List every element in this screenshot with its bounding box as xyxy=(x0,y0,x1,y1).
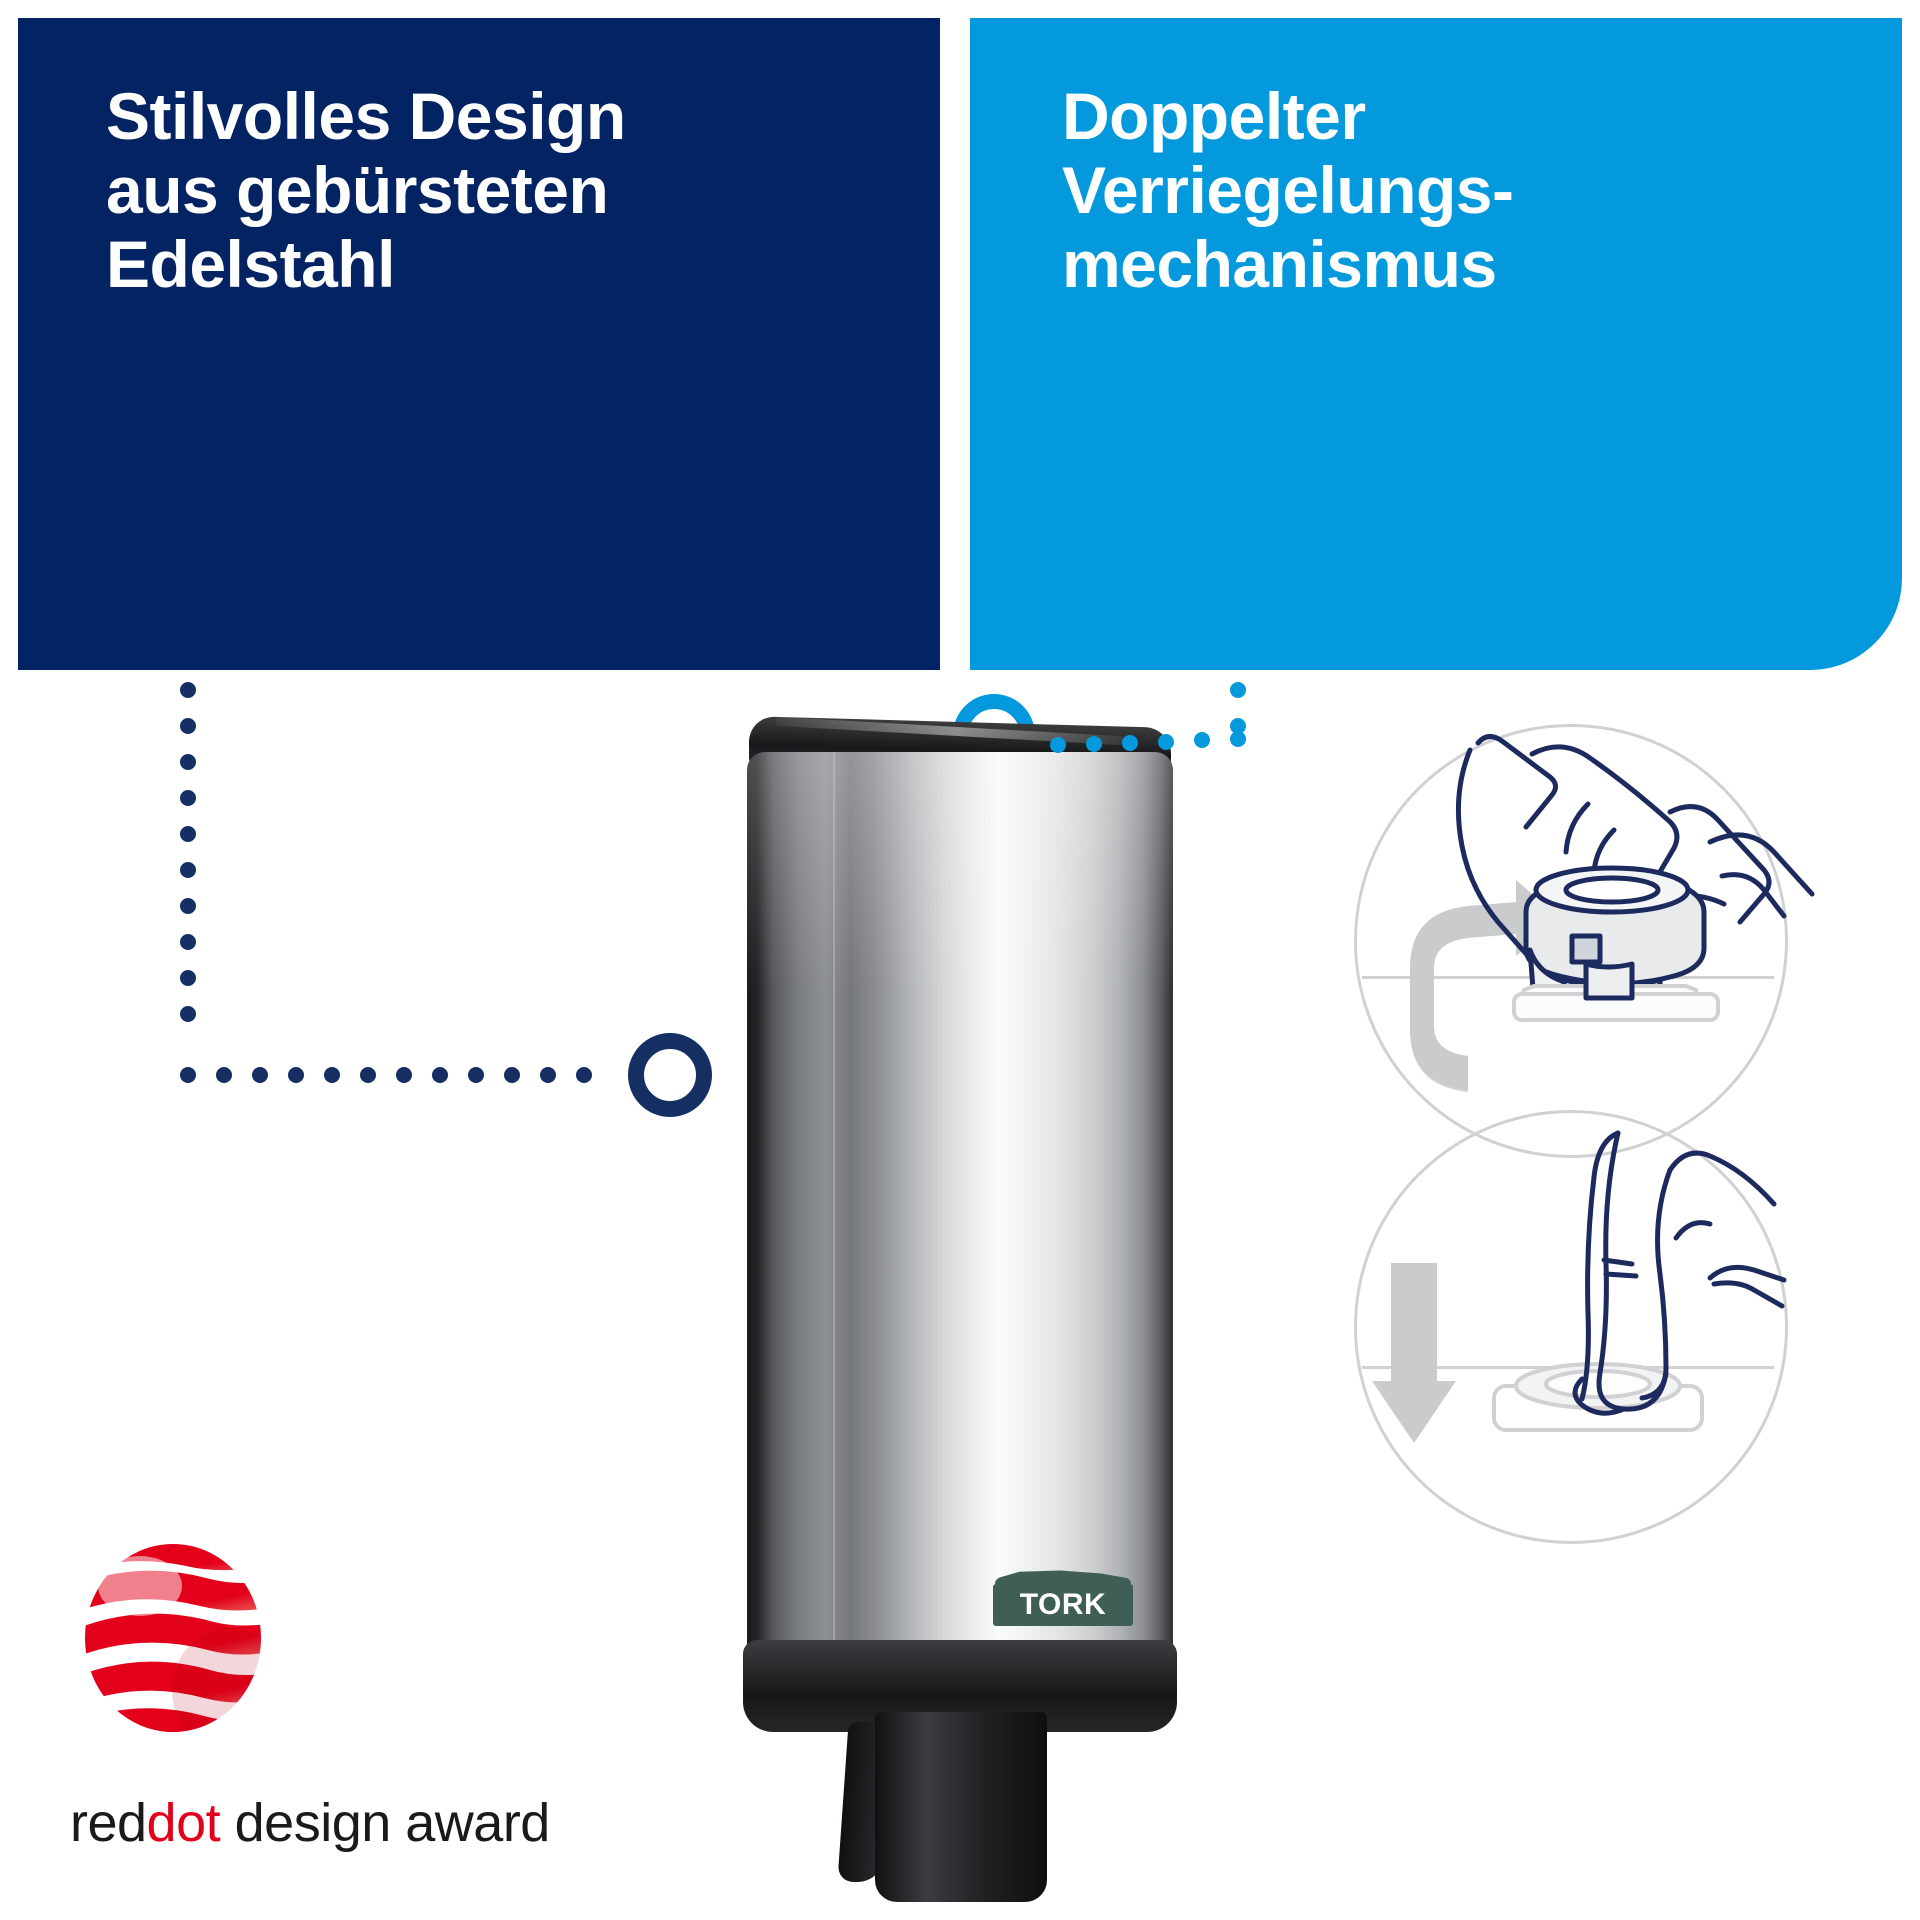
connector-left-dot xyxy=(360,1067,376,1083)
connector-left-dot xyxy=(180,718,196,734)
reddot-caption-dot: dot xyxy=(147,1793,221,1853)
connector-right-dot xyxy=(1230,682,1246,698)
connector-left-dot xyxy=(432,1067,448,1083)
connector-left-dot xyxy=(324,1067,340,1083)
connector-left-dot xyxy=(180,790,196,806)
connector-left-dot xyxy=(504,1067,520,1083)
reddot-caption: reddot design award xyxy=(70,1792,650,1854)
reddot-caption-red: red xyxy=(70,1793,147,1853)
reddot-sphere-logo xyxy=(80,1540,266,1736)
connector-left-dot xyxy=(252,1067,268,1083)
dispenser-brushed-texture xyxy=(747,752,1173,1658)
connector-left-dot xyxy=(216,1067,232,1083)
connector-right-dot xyxy=(1158,734,1174,750)
tork-logo: TORK xyxy=(993,1570,1133,1626)
connector-left-dot xyxy=(180,862,196,878)
page-root: Stilvolles Design aus gebürsteten Edelst… xyxy=(0,0,1920,1920)
connector-left-ring-marker xyxy=(628,1033,712,1117)
dispenser-top-cap-highlight xyxy=(775,717,1135,746)
feature-panel-left: Stilvolles Design aus gebürsteten Edelst… xyxy=(18,18,940,670)
connector-left-dot xyxy=(180,682,196,698)
connector-right-dot xyxy=(1122,735,1138,751)
connector-left-dot xyxy=(180,898,196,914)
instruction-illustrations xyxy=(1318,718,1918,1558)
connector-left-dot xyxy=(180,754,196,770)
connector-left-dot xyxy=(576,1067,592,1083)
connector-left-dot xyxy=(396,1067,412,1083)
tork-soap-dispenser: TORK xyxy=(735,722,1185,1902)
connector-right-dot xyxy=(1086,736,1102,752)
connector-left-dot xyxy=(180,970,196,986)
connector-right-dot xyxy=(1194,732,1210,748)
dispenser-edge-line xyxy=(833,752,835,1658)
feature-panel-left-text: Stilvolles Design aus gebürsteten Edelst… xyxy=(106,80,900,302)
feature-panel-right: Doppelter Verriegelungs- mechanismus xyxy=(970,18,1902,670)
connector-left-dot xyxy=(468,1067,484,1083)
connector-left-dot xyxy=(180,1006,196,1022)
reddot-caption-rest: design award xyxy=(220,1793,550,1853)
feature-panel-right-text: Doppelter Verriegelungs- mechanismus xyxy=(1062,80,1862,302)
connector-left-dot xyxy=(180,934,196,950)
connector-left-dot xyxy=(180,1067,196,1083)
dispenser-nozzle xyxy=(875,1712,1047,1902)
connector-left-dot xyxy=(288,1067,304,1083)
connector-left-dot xyxy=(180,826,196,842)
reddot-design-award: reddot design award xyxy=(70,1540,650,1880)
connector-left-dot xyxy=(540,1067,556,1083)
instruction-press-finger-icon xyxy=(1318,718,1918,1558)
dispenser-body: TORK xyxy=(747,752,1173,1658)
connector-right-dot xyxy=(1230,731,1246,747)
tork-logo-text: TORK xyxy=(993,1588,1133,1622)
